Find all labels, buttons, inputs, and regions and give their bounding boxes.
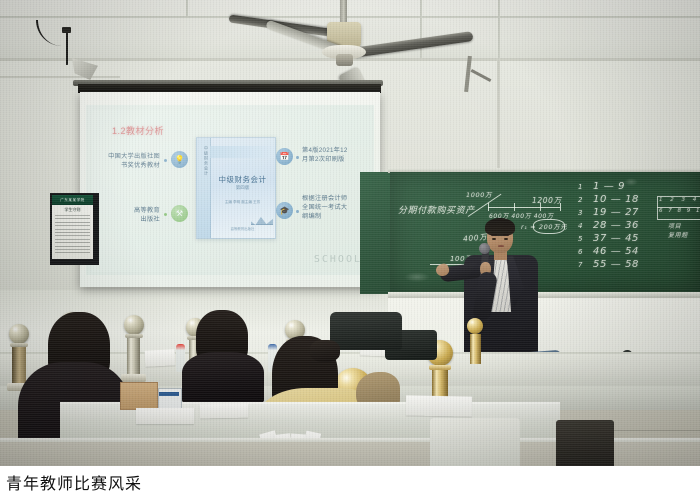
- slide-title: 1.2教材分析: [112, 124, 164, 137]
- bullet-dot: [164, 213, 167, 216]
- blackboard-list-index: 4: [578, 222, 583, 230]
- ceiling-seam: [0, 16, 700, 18]
- blackboard-list-index: 2: [578, 196, 583, 204]
- blackboard-list-range: 10 — 18: [593, 194, 639, 205]
- blackboard-list-range: 1 — 9: [593, 181, 625, 192]
- presenter-hair: [485, 218, 515, 236]
- blackboard-tick: [488, 203, 489, 211]
- presenter-eye: [504, 238, 508, 240]
- badge-icon: 🎓: [276, 202, 293, 219]
- ceiling-fan-rod: [340, 0, 347, 24]
- blackboard-timeline: [488, 207, 560, 208]
- chalk-smudge: [404, 272, 430, 282]
- blackboard-list-index: 6: [578, 248, 583, 256]
- foreground-dark-chair: [556, 420, 614, 470]
- chair-back: [330, 312, 402, 350]
- student-head: [310, 340, 340, 362]
- microphone-head-icon: [479, 243, 490, 254]
- blackboard-list-range: 37 — 45: [593, 233, 639, 244]
- presenter-eyebrow: [491, 234, 497, 236]
- tools-icon: ⚒: [171, 205, 188, 222]
- bullet-dot: [296, 156, 299, 159]
- foreground-chair: [430, 418, 520, 470]
- book-publisher: 高等教育出版社: [210, 226, 275, 231]
- caption-bar: 青年教师比赛风采: [0, 466, 700, 498]
- textbook-cover-image: 中级财务会计 中级财务会计 第四版 主编 李明 副主编 王芳 高等教育出版社: [196, 137, 276, 239]
- blackboard-list-range: 19 — 27: [593, 207, 639, 218]
- slide-bullet-right-top-text: 第4版2021年12 月第2次印刷版: [302, 146, 370, 164]
- trophy-ball: [467, 318, 483, 334]
- blackboard-annotation-boxed-result: r₁ = 200万元: [521, 221, 567, 231]
- paper-sheet: [406, 395, 472, 416]
- blackboard-list-range: 55 — 58: [593, 259, 639, 270]
- classroom-photo: 1.2教材分析 中级财务会计 中级财务会计 第四版 主编 李明 副主编 王芳 高…: [0, 0, 700, 498]
- book-subtitle: 第四版: [210, 185, 275, 191]
- blackboard-list-range: 46 — 54: [593, 246, 639, 257]
- blackboard-tick: [514, 203, 515, 211]
- school-watermark: SCHOOL: [314, 254, 362, 265]
- blackboard-handwriting-left: 分期付款购买资产: [398, 203, 475, 216]
- presenter-mouth: [498, 245, 504, 247]
- notice-header: 广东某某学院: [52, 195, 93, 205]
- book-title: 中级财务会计: [210, 174, 275, 185]
- blackboard-left-section: [360, 172, 392, 294]
- blackboard-list-index: 1: [578, 183, 583, 191]
- slide-bullet-left-bottom-text: 高等教育 出版社: [102, 206, 160, 224]
- calendar-icon: 📅: [276, 148, 293, 165]
- blackboard-list-range: 28 — 36: [593, 220, 639, 231]
- student-body: [182, 352, 264, 404]
- lightbulb-icon: 💡: [171, 151, 188, 168]
- wall-moulding: [0, 76, 120, 78]
- bullet-dot: [296, 210, 299, 213]
- bullet-dot: [164, 159, 167, 162]
- blackboard-annotation-right-number: 1200万: [532, 195, 562, 206]
- trophy-ball: [124, 315, 144, 335]
- presentation-slide: 1.2教材分析 中级财务会计 中级财务会计 第四版 主编 李明 副主编 王芳 高…: [92, 110, 372, 272]
- paper-sheet: [145, 349, 176, 367]
- book-authors: 主编 李明 副主编 王芳: [210, 200, 275, 205]
- notice-title: 学生守则: [52, 207, 93, 213]
- blackboard-list-index: 5: [578, 235, 583, 243]
- notice-body-lines: [55, 215, 90, 256]
- paper-sheet: [136, 408, 194, 424]
- wall-moulding: [497, 60, 500, 175]
- cardboard-box: [120, 382, 158, 410]
- ceiling-seam: [186, 0, 188, 18]
- paper-sheet: [200, 404, 248, 419]
- blackboard-list-index: 3: [578, 209, 583, 217]
- blackboard-list-index: 7: [578, 261, 583, 269]
- product-box-band: [159, 392, 179, 396]
- book-spine-text: 中级财务会计: [198, 146, 209, 176]
- book-wave-graphic: [251, 216, 273, 225]
- book-cover-band: [210, 146, 275, 158]
- blackboard-side-note: 项目 复用题: [668, 222, 688, 240]
- presenter-eyebrow: [503, 234, 509, 236]
- blackboard-grid-row-top: 1 2 3 4 5: [659, 197, 700, 203]
- trophy-column: [127, 338, 140, 376]
- blackboard-grid-row-bottom: 6 7 8 9 10: [659, 208, 700, 214]
- book-spine: 中级财务会计: [197, 138, 211, 238]
- slide-bullet-left-top-text: 中国大学出版社图 书奖优秀教材: [98, 152, 160, 170]
- chalk-smudge: [624, 178, 638, 186]
- trophy-column: [470, 334, 481, 364]
- ceiling-fan-motor: [336, 54, 353, 66]
- trophy-ball: [9, 324, 29, 344]
- caption-text: 青年教师比赛风采: [6, 470, 142, 494]
- trophy-column: [12, 347, 26, 385]
- floor-tile-line: [600, 430, 700, 431]
- presenter-eye: [492, 238, 496, 240]
- trophy-base: [121, 374, 146, 382]
- blackboard-annotation-top-number: 1000万: [466, 189, 492, 199]
